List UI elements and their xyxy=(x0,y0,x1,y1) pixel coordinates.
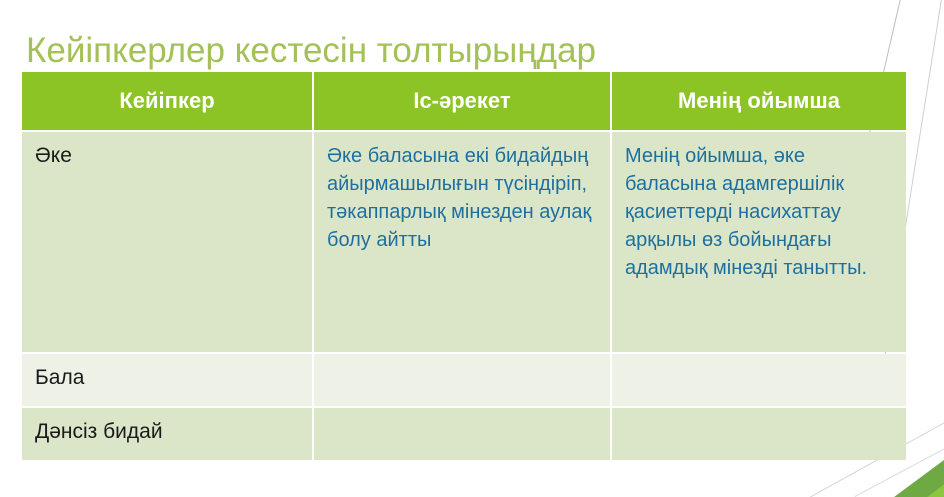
table-header-row: Кейіпкер Іс-әрекет Менің ойымша xyxy=(22,72,906,130)
table-row: Бала xyxy=(22,354,906,406)
opinion-text xyxy=(612,408,906,428)
table-row: Әке Әке баласына екі бидайдың айырмашылы… xyxy=(22,132,906,352)
column-header-action: Іс-әрекет xyxy=(314,72,610,130)
character-name: Әке xyxy=(22,132,312,180)
column-header-opinion: Менің ойымша xyxy=(612,72,906,130)
cell-action[interactable]: Әке баласына екі бидайдың айырмашылығын … xyxy=(314,132,610,352)
cell-character: Дәнсіз бидай xyxy=(22,408,312,460)
page-title: Кейіпкерлер кестесін толтырыңдар xyxy=(26,27,886,75)
cell-opinion[interactable] xyxy=(612,408,906,460)
action-text: Әке баласына екі бидайдың айырмашылығын … xyxy=(314,132,610,264)
action-text xyxy=(314,408,610,428)
table-body: Әке Әке баласына екі бидайдың айырмашылы… xyxy=(22,132,906,460)
corner-wedge-decoration-icon xyxy=(886,457,944,497)
cell-opinion[interactable]: Менің ойымша, әке баласына адамгершілік … xyxy=(612,132,906,352)
opinion-text: Менің ойымша, әке баласына адамгершілік … xyxy=(612,132,906,292)
opinion-text xyxy=(612,354,906,374)
column-header-character: Кейіпкер xyxy=(22,72,312,130)
cell-character: Бала xyxy=(22,354,312,406)
cell-action[interactable] xyxy=(314,354,610,406)
cell-action[interactable] xyxy=(314,408,610,460)
action-text xyxy=(314,354,610,374)
cell-opinion[interactable] xyxy=(612,354,906,406)
table-row: Дәнсіз бидай xyxy=(22,408,906,460)
character-table: Кейіпкер Іс-әрекет Менің ойымша Әке Әке … xyxy=(20,70,908,462)
slide-canvas: Кейіпкерлер кестесін толтырыңдар Кейіпке… xyxy=(0,0,944,497)
character-name: Бала xyxy=(22,354,312,402)
corner-wedge-accent-icon xyxy=(914,477,944,497)
cell-character: Әке xyxy=(22,132,312,352)
character-name: Дәнсіз бидай xyxy=(22,408,312,456)
table-header: Кейіпкер Іс-әрекет Менің ойымша xyxy=(22,72,906,130)
